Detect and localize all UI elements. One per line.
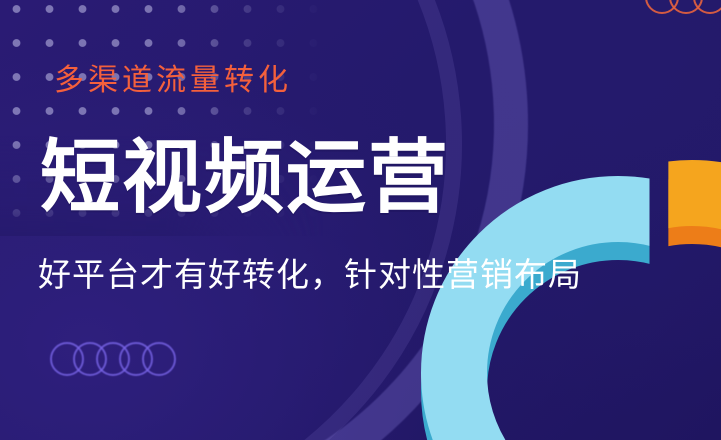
subtitle-text: 好平台才有好转化，针对性营销布局 bbox=[38, 258, 582, 291]
text-layer: 多渠道流量转化 短视频运营 好平台才有好转化，针对性营销布局 bbox=[0, 0, 721, 440]
promo-banner: 多渠道流量转化 短视频运营 好平台才有好转化，针对性营销布局 bbox=[0, 0, 721, 440]
page-title: 短视频运营 bbox=[40, 138, 450, 218]
eyebrow-text: 多渠道流量转化 bbox=[54, 66, 292, 96]
